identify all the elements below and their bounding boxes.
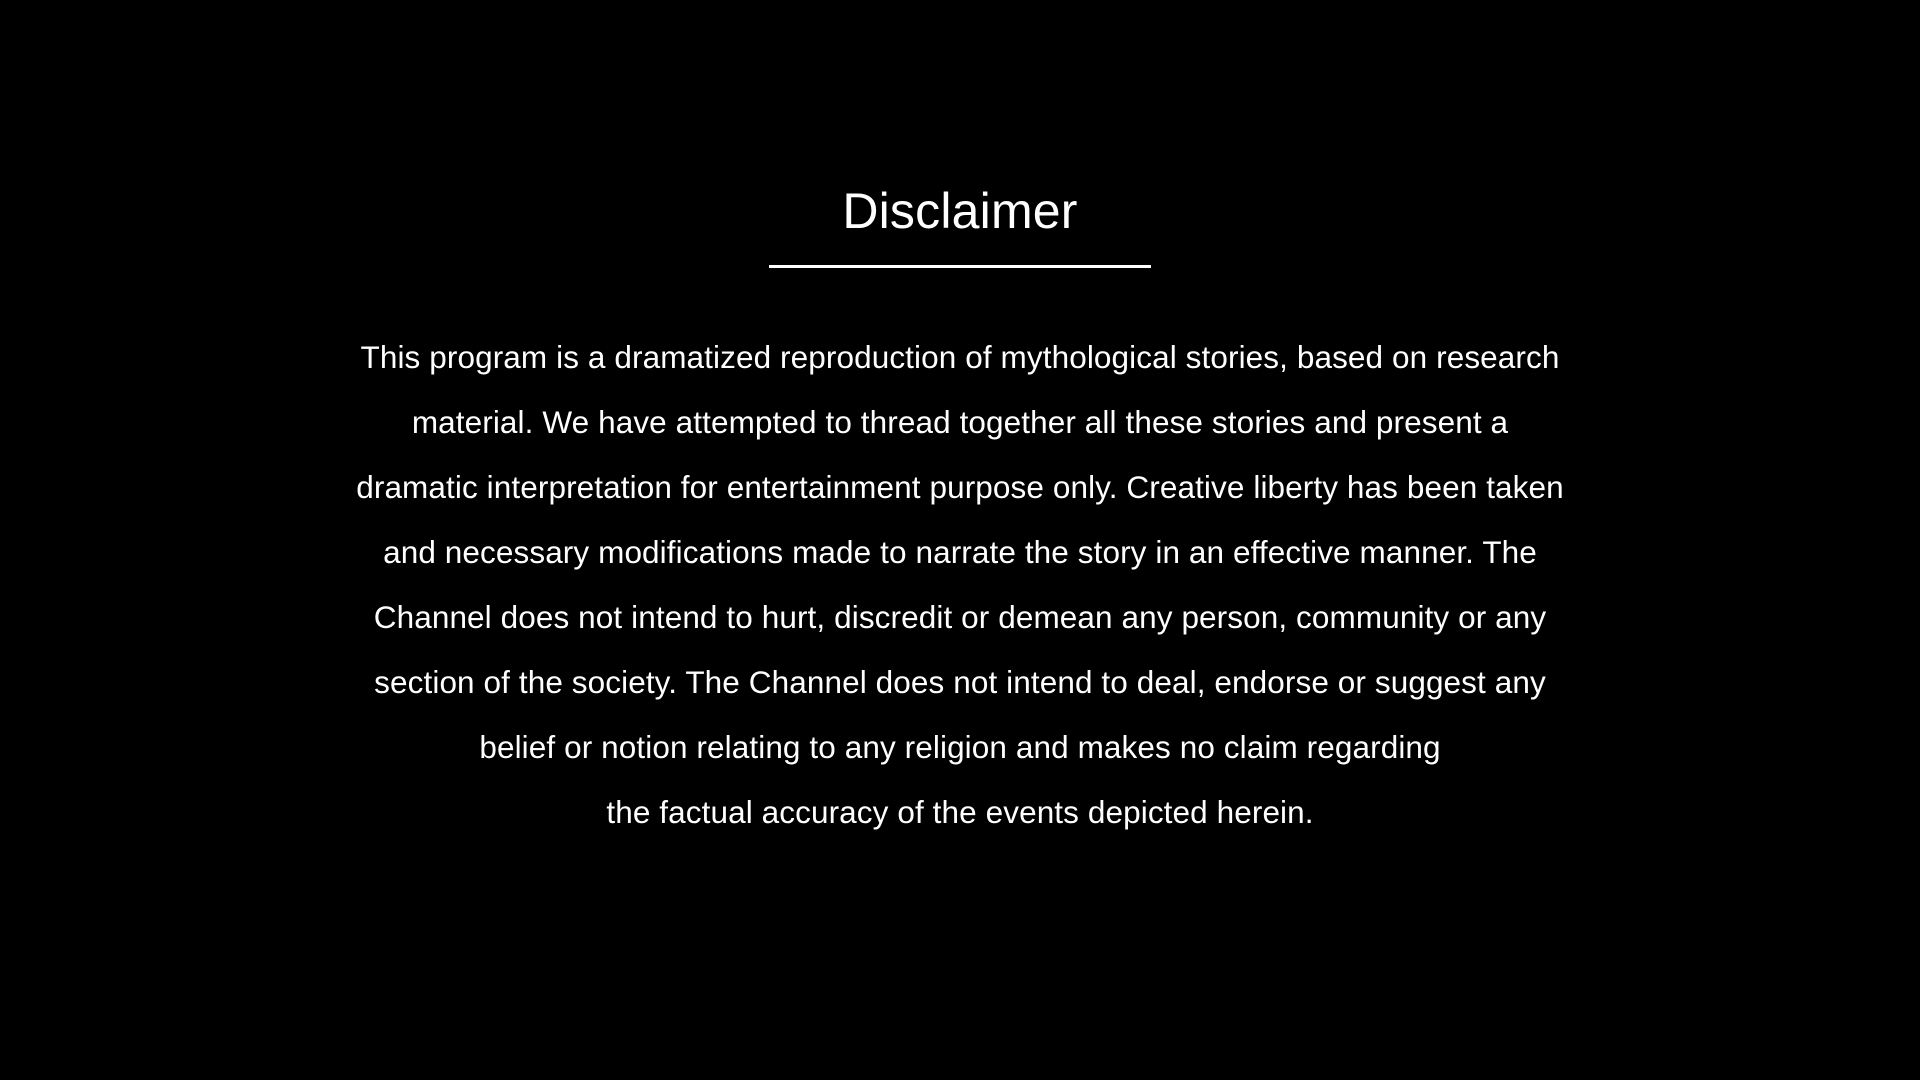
disclaimer-body: This program is a dramatized reproductio… [110,325,1810,845]
disclaimer-line: dramatic interpretation for entertainmen… [110,455,1810,520]
disclaimer-line: Channel does not intend to hurt, discred… [110,585,1810,650]
disclaimer-line: This program is a dramatized reproductio… [110,325,1810,390]
disclaimer-line: and necessary modifications made to narr… [110,520,1810,585]
disclaimer-line: section of the society. The Channel does… [110,650,1810,715]
title-divider [769,265,1151,268]
disclaimer-line: belief or notion relating to any religio… [110,715,1810,780]
title-block: Disclaimer [0,182,1920,240]
page-title: Disclaimer [842,182,1077,240]
disclaimer-line: material. We have attempted to thread to… [110,390,1810,455]
disclaimer-slide: Disclaimer This program is a dramatized … [0,0,1920,1080]
disclaimer-line: the factual accuracy of the events depic… [110,780,1810,845]
